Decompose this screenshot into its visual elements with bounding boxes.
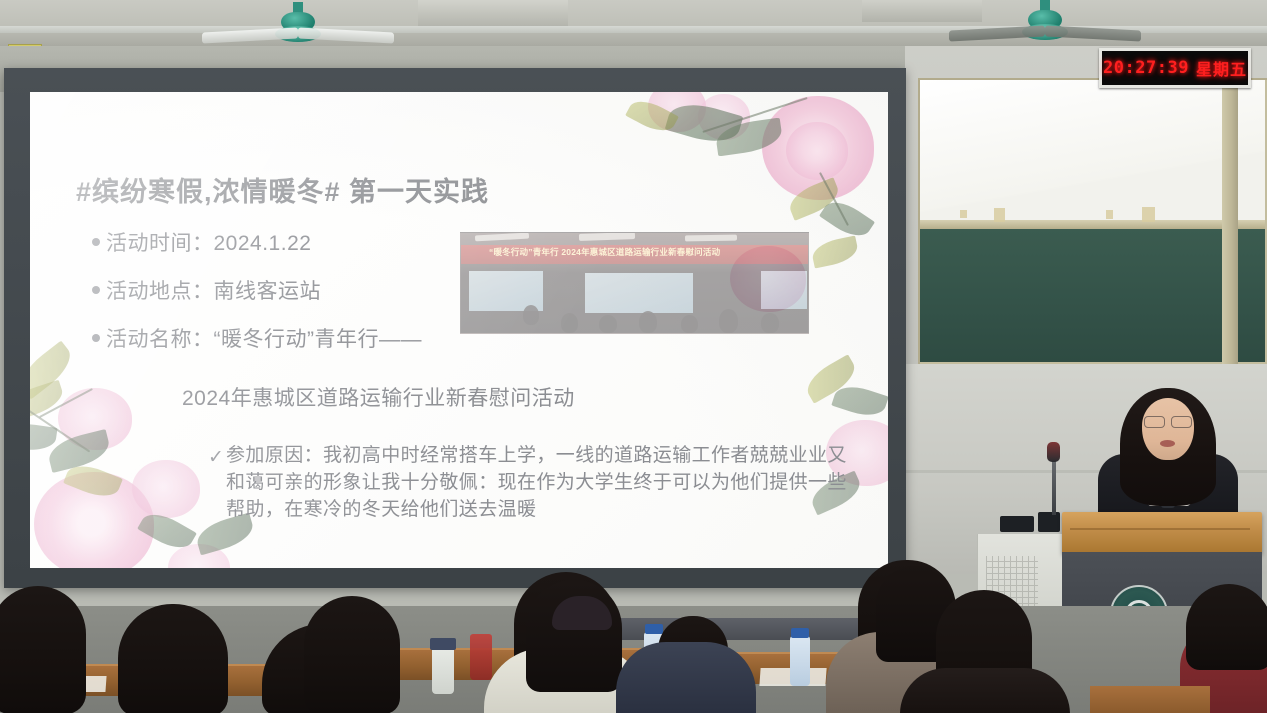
speaker-person — [1058, 388, 1267, 518]
bullet-text: 活动名称：“暖冬行动”青年行—— — [106, 323, 422, 353]
audience-shoulder-6 — [616, 642, 756, 713]
thermos-bottle — [432, 646, 454, 694]
ceiling-fan-left — [198, 2, 398, 46]
projection-screen: #缤纷寒假,浓情暖冬# 第一天实践 活动时间：2024.1.22 活动地点：南线… — [30, 92, 888, 568]
podium-top-surface — [1062, 512, 1262, 554]
audience-head-4 — [304, 596, 400, 713]
tape-mark-2 — [994, 208, 1005, 222]
audience-head-1 — [0, 586, 86, 713]
red-bottle — [470, 634, 492, 680]
chalkboard-frame — [918, 78, 1267, 368]
microphone-stand — [1052, 455, 1056, 515]
bullet-dot-icon — [92, 334, 100, 342]
classroom-photo-scene: 20:27:39 星期五 — [0, 0, 1267, 713]
bullet-dot-icon — [92, 238, 100, 246]
clock-weekday-display: 星期五 — [1196, 56, 1247, 80]
tape-mark-4 — [1142, 207, 1155, 222]
ceiling-fan-right — [945, 0, 1145, 44]
bullet-dot-icon — [92, 286, 100, 294]
slide-reason-text: 参加原因：我初高中时经常搭车上学，一线的道路运输工作者兢兢业业又和蔼可亲的形象让… — [226, 445, 847, 520]
water-bottle-cap-2 — [791, 628, 809, 638]
av-equipment-2 — [1038, 512, 1060, 532]
audience-shoulder-8 — [900, 668, 1070, 713]
speaker-mouth — [1160, 440, 1175, 447]
desk-rail — [602, 618, 870, 640]
av-equipment-1 — [1000, 516, 1034, 532]
front-desk-right — [1090, 686, 1210, 713]
bullet-text: 活动地点：南线客运站 — [106, 275, 321, 305]
slide-continuation-line: 2024年惠城区道路运输行业新春慰问活动 — [182, 382, 575, 412]
digital-clock: 20:27:39 星期五 — [1099, 48, 1251, 88]
bullet-text: 活动时间：2024.1.22 — [106, 227, 311, 257]
podium-top-edge — [1070, 528, 1250, 530]
photo-banner-text: “暖冬行动”青年行 2024年惠城区道路运输行业新春慰问活动 — [489, 246, 789, 258]
speaker-face — [1142, 398, 1194, 460]
board-support-post — [1222, 70, 1238, 370]
water-bottle-2 — [790, 636, 810, 686]
projection-screen-frame: #缤纷寒假,浓情暖冬# 第一天实践 活动时间：2024.1.22 活动地点：南线… — [4, 68, 906, 588]
chalkboard-ledge — [920, 220, 1265, 229]
clock-time-display: 20:27:39 — [1103, 58, 1189, 78]
slide-title: #缤纷寒假,浓情暖冬# 第一天实践 — [76, 170, 489, 209]
tape-mark-1 — [960, 210, 967, 218]
glasses-icon — [1144, 416, 1192, 426]
audience-head-2 — [118, 604, 228, 713]
slide-embedded-photo: “暖冬行动”青年行 2024年惠城区道路运输行业新春慰问活动 — [460, 232, 809, 334]
check-mark-icon: ✓ — [208, 444, 224, 471]
water-bottle-cap-1 — [645, 624, 663, 634]
audience-head-9 — [1186, 584, 1267, 670]
slide-reason-block: ✓ 参加原因：我初高中时经常搭车上学，一线的道路运输工作者兢兢业业又和蔼可亲的形… — [226, 442, 866, 523]
ceiling-vent-left — [418, 0, 568, 26]
presentation-slide: #缤纷寒假,浓情暖冬# 第一天实践 活动时间：2024.1.22 活动地点：南线… — [30, 92, 888, 568]
tape-mark-3 — [1106, 210, 1113, 219]
thermos-cap — [430, 638, 456, 650]
chalkboard — [920, 228, 1265, 362]
